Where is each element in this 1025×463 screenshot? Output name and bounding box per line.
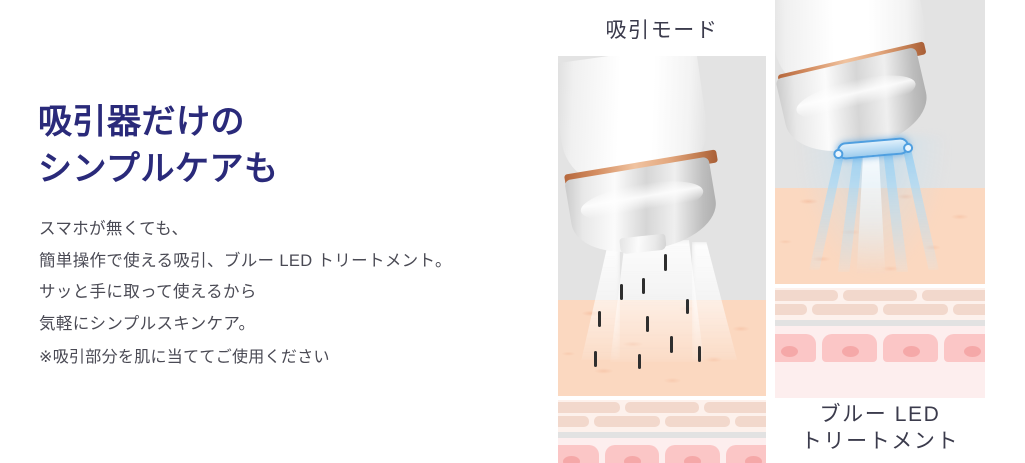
brick bbox=[953, 304, 985, 315]
brick bbox=[625, 402, 699, 413]
cell-nucleus bbox=[684, 456, 701, 463]
cell-row bbox=[775, 334, 985, 362]
page-title: 吸引器だけの シンプルケアも bbox=[38, 99, 278, 192]
cell-nucleus bbox=[903, 346, 920, 357]
skin-cell bbox=[822, 334, 877, 362]
brick-row bbox=[775, 304, 985, 315]
body-description: スマホが無くても、 簡単操作で使える吸引、ブルー LED トリートメント。 サッ… bbox=[39, 214, 452, 341]
brick-row bbox=[558, 416, 766, 427]
skin-cell bbox=[558, 445, 599, 463]
skin-cell bbox=[883, 334, 938, 362]
brick bbox=[594, 416, 659, 427]
hair-follicle bbox=[620, 284, 623, 300]
brick bbox=[735, 416, 766, 427]
brick bbox=[775, 290, 838, 301]
hair-follicle bbox=[698, 346, 701, 362]
skin-cell bbox=[726, 445, 767, 463]
skin-brick-layer bbox=[775, 288, 985, 320]
skin-brick-layer bbox=[558, 400, 766, 432]
brick bbox=[922, 290, 985, 301]
hair-follicle bbox=[642, 278, 645, 294]
brick-row bbox=[558, 402, 766, 413]
brick-row bbox=[775, 290, 985, 301]
brick bbox=[558, 416, 589, 427]
hair-follicle bbox=[646, 316, 649, 332]
suction-plume-center bbox=[610, 240, 704, 362]
cell-nucleus bbox=[842, 346, 859, 357]
brick bbox=[704, 402, 766, 413]
skin-cell bbox=[775, 334, 816, 362]
brick bbox=[775, 304, 807, 315]
hair-follicle bbox=[670, 336, 673, 353]
hair-follicle bbox=[598, 311, 601, 327]
hair-follicle bbox=[686, 299, 689, 314]
brick bbox=[812, 304, 878, 315]
skin-cell bbox=[605, 445, 660, 463]
cell-nucleus bbox=[964, 346, 981, 357]
brick bbox=[883, 304, 949, 315]
cell-nucleus bbox=[624, 456, 641, 463]
usage-note: ※吸引部分を肌に当ててご使用ください bbox=[39, 345, 330, 371]
skin-dermis-layer bbox=[558, 438, 766, 463]
cell-nucleus bbox=[563, 456, 580, 463]
brick bbox=[843, 290, 918, 301]
skin-dermis-layer bbox=[775, 326, 985, 398]
caption-blue-led-treatment: ブルー LED トリートメント bbox=[775, 402, 985, 456]
illustration-blue-led bbox=[775, 0, 985, 398]
brick bbox=[665, 416, 730, 427]
hair-follicle bbox=[638, 354, 641, 369]
cell-nucleus bbox=[745, 456, 762, 463]
illustration-suction-mode bbox=[558, 56, 766, 463]
brick bbox=[558, 402, 620, 413]
caption-suction-mode: 吸引モード bbox=[558, 18, 766, 45]
hair-follicle bbox=[664, 254, 667, 271]
hair-follicle bbox=[594, 351, 597, 367]
cell-row bbox=[558, 445, 766, 463]
skin-cell bbox=[665, 445, 720, 463]
cell-nucleus bbox=[781, 346, 798, 357]
skin-cell bbox=[944, 334, 985, 362]
text-column: 吸引器だけの シンプルケアも スマホが無くても、 簡単操作で使える吸引、ブルー … bbox=[38, 0, 538, 463]
